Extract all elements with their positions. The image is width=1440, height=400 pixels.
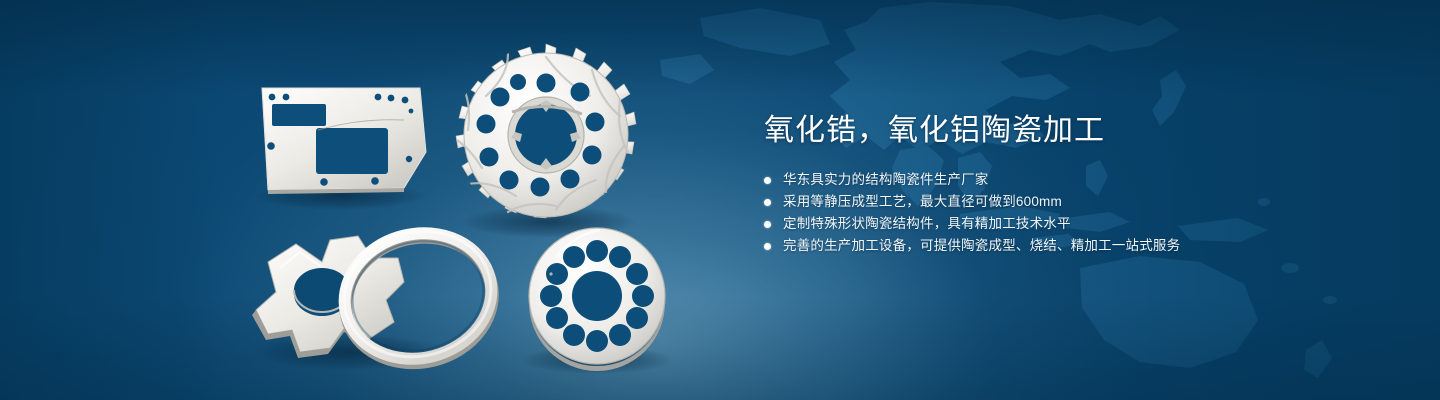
product-ceramic-impeller: [446, 44, 636, 218]
product-photo-group: [0, 0, 740, 400]
list-item-label: 定制特殊形状陶瓷结构件，具有精加工技术水平: [783, 216, 1071, 232]
list-item-label: 完善的生产加工设备，可提供陶瓷成型、烧结、精加工一站式服务: [783, 238, 1180, 254]
product-ceramic-plate: [262, 88, 426, 194]
bullet-dot-icon: [764, 243, 771, 250]
list-item: 定制特殊形状陶瓷结构件，具有精加工技术水平: [764, 216, 1384, 232]
page-title: 氧化锆，氧化铝陶瓷加工: [764, 112, 1384, 150]
bullet-dot-icon: [764, 221, 771, 228]
banner-text-block: 氧化锆，氧化铝陶瓷加工 华东具实力的结构陶瓷件生产厂家 采用等静压成型工艺，最大…: [764, 112, 1384, 260]
feature-list: 华东具实力的结构陶瓷件生产厂家 采用等静压成型工艺，最大直径可做到600mm 定…: [764, 172, 1384, 254]
product-ceramic-hole-disc: [529, 228, 665, 371]
list-item-label: 采用等静压成型工艺，最大直径可做到600mm: [783, 194, 1062, 210]
bullet-dot-icon: [764, 199, 771, 206]
list-item: 华东具实力的结构陶瓷件生产厂家: [764, 172, 1384, 188]
hero-banner: 氧化锆，氧化铝陶瓷加工 华东具实力的结构陶瓷件生产厂家 采用等静压成型工艺，最大…: [0, 0, 1440, 400]
list-item: 采用等静压成型工艺，最大直径可做到600mm: [764, 194, 1384, 210]
bullet-dot-icon: [764, 177, 771, 184]
list-item-label: 华东具实力的结构陶瓷件生产厂家: [783, 172, 989, 188]
list-item: 完善的生产加工设备，可提供陶瓷成型、烧结、精加工一站式服务: [764, 238, 1384, 254]
